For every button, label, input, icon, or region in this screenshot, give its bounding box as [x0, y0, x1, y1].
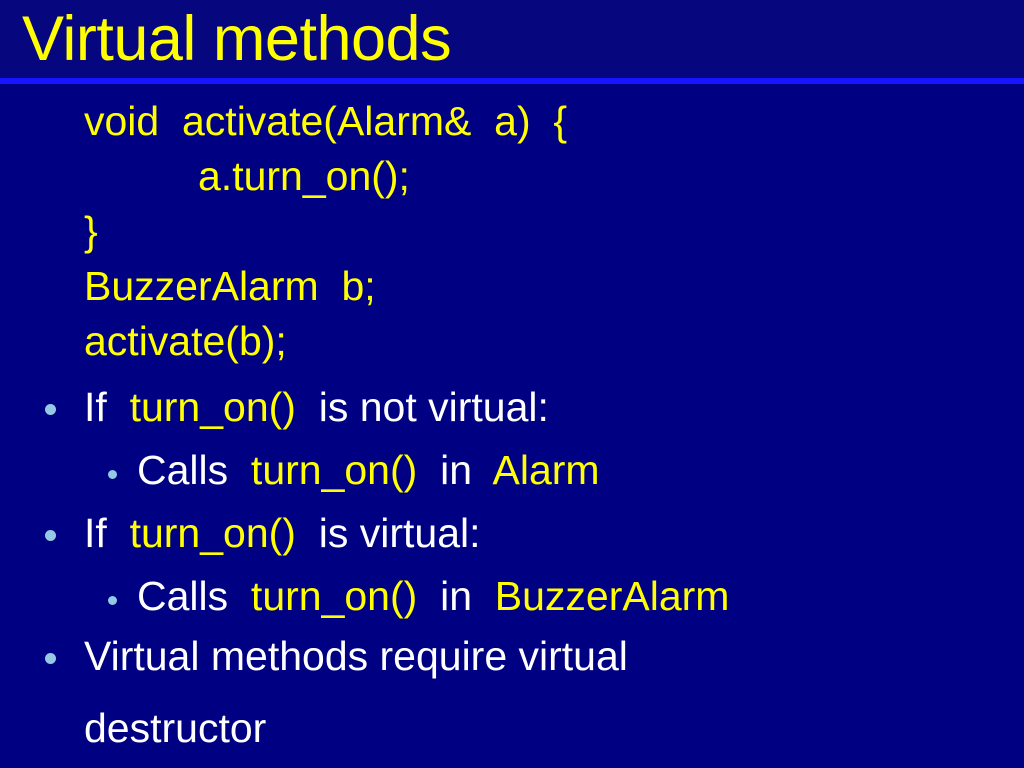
- code-line: a.turn_on();: [198, 156, 410, 197]
- text-run: turn_on(): [130, 384, 296, 430]
- text-run: in: [417, 573, 494, 619]
- text-run: in: [417, 447, 492, 493]
- bullet-dot-icon: [45, 404, 56, 415]
- code-line: }: [84, 211, 98, 252]
- bullet-dot-icon: [45, 530, 56, 541]
- page-title: Virtual methods: [22, 2, 451, 76]
- text-run: Calls: [137, 447, 251, 493]
- slide-title-bar: Virtual methods: [0, 0, 1024, 78]
- code-line: activate(b);: [84, 321, 287, 362]
- text-run: Calls: [137, 573, 251, 619]
- text-run: is virtual:: [296, 510, 481, 556]
- bullet-dot-icon: [108, 470, 117, 479]
- text-run: is not virtual:: [296, 384, 549, 430]
- code-line: void activate(Alarm& a) {: [84, 101, 567, 142]
- presentation-slide: Virtual methods void activate(Alarm& a) …: [0, 0, 1024, 768]
- text-run: turn_on(): [251, 573, 417, 619]
- text-run: turn_on(): [251, 447, 417, 493]
- text-run: If: [84, 510, 130, 556]
- text-run: turn_on(): [130, 510, 296, 556]
- bullet-text: If turn_on() is not virtual:: [84, 387, 549, 428]
- bullet-text: If turn_on() is virtual:: [84, 513, 481, 554]
- text-run: Alarm: [493, 447, 600, 493]
- text-run: If: [84, 384, 130, 430]
- bullet-text: Calls turn_on() in Alarm: [137, 450, 600, 491]
- text-run: Virtual methods require virtual: [84, 633, 628, 679]
- bullet-text: Virtual methods require virtual: [84, 636, 628, 677]
- bullet-text: Calls turn_on() in BuzzerAlarm: [137, 576, 729, 617]
- bullet-wrapped-line: destructor: [84, 708, 266, 749]
- bullet-dot-icon: [108, 596, 117, 605]
- bullet-dot-icon: [45, 653, 56, 664]
- code-line: BuzzerAlarm b;: [84, 266, 376, 307]
- text-run: BuzzerAlarm: [495, 573, 730, 619]
- slide-body: void activate(Alarm& a) {a.turn_on();}Bu…: [0, 84, 1024, 768]
